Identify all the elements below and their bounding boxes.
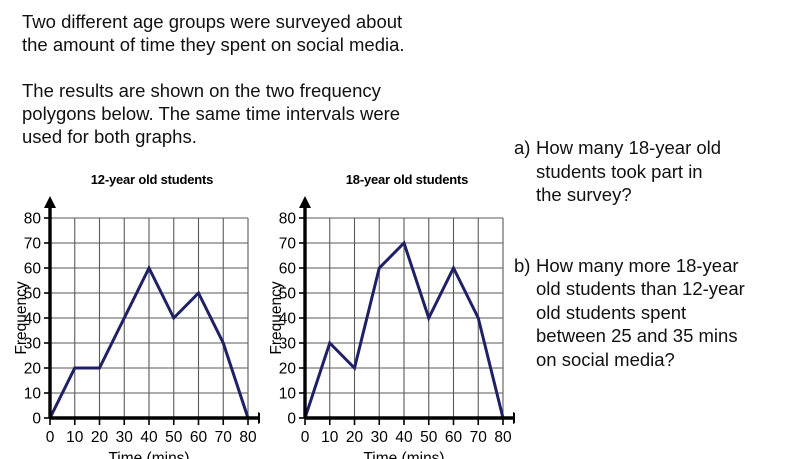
x-tick-label: 20 bbox=[346, 429, 364, 446]
chart-canvas: 0102030405060708001020304050607080Time (… bbox=[265, 187, 515, 459]
chart-canvas: 0102030405060708001020304050607080Time (… bbox=[10, 187, 260, 459]
chart-axes bbox=[299, 196, 515, 424]
question-b-text: How many more 18-year old students than … bbox=[536, 254, 800, 372]
question-a-text: How many 18-year old students took part … bbox=[536, 136, 800, 207]
intro-text-block: Two different age groups were surveyed a… bbox=[22, 10, 492, 148]
frequency-polygon-12-year: 12-year old students 0102030405060708001… bbox=[10, 172, 272, 459]
question-b: b) How many more 18-year old students th… bbox=[514, 254, 800, 372]
x-axis-title: Time (mins) bbox=[108, 450, 189, 459]
x-tick-label: 0 bbox=[301, 429, 310, 446]
x-axis-ticks: 01020304050607080 bbox=[301, 418, 512, 446]
question-a: a) How many 18-year old students took pa… bbox=[514, 136, 800, 207]
x-tick-label: 30 bbox=[371, 429, 389, 446]
x-tick-label: 60 bbox=[445, 429, 463, 446]
intro-paragraph-1: Two different age groups were surveyed a… bbox=[22, 10, 492, 56]
chart-gridlines bbox=[305, 218, 503, 418]
x-axis-title: Time (mins) bbox=[363, 450, 444, 459]
x-tick-label: 10 bbox=[66, 429, 84, 446]
x-tick-label: 20 bbox=[91, 429, 109, 446]
y-tick-label: 20 bbox=[279, 361, 297, 378]
y-tick-label: 80 bbox=[24, 211, 42, 228]
y-tick-label: 60 bbox=[279, 261, 297, 278]
y-axis-title: Frequency bbox=[13, 281, 30, 354]
y-tick-label: 60 bbox=[24, 261, 42, 278]
y-tick-label: 70 bbox=[279, 236, 297, 253]
x-tick-label: 0 bbox=[46, 429, 55, 446]
x-axis-ticks: 01020304050607080 bbox=[46, 418, 257, 446]
x-tick-label: 30 bbox=[116, 429, 134, 446]
x-tick-label: 40 bbox=[140, 429, 158, 446]
chart-gridlines bbox=[50, 218, 248, 418]
question-a-marker: a) bbox=[514, 136, 536, 207]
chart-axes bbox=[44, 196, 260, 424]
chart-title: 18-year old students bbox=[287, 172, 527, 187]
y-tick-label: 0 bbox=[287, 411, 296, 428]
chart-title: 12-year old students bbox=[32, 172, 272, 187]
x-tick-label: 40 bbox=[395, 429, 413, 446]
intro-paragraph-2: The results are shown on the two frequen… bbox=[22, 79, 492, 148]
x-tick-label: 50 bbox=[165, 429, 183, 446]
x-tick-label: 80 bbox=[239, 429, 257, 446]
x-tick-label: 70 bbox=[470, 429, 488, 446]
y-tick-label: 0 bbox=[32, 411, 41, 428]
x-tick-label: 10 bbox=[321, 429, 339, 446]
y-tick-label: 80 bbox=[279, 211, 297, 228]
x-tick-label: 80 bbox=[494, 429, 512, 446]
x-tick-label: 60 bbox=[190, 429, 208, 446]
y-tick-label: 10 bbox=[24, 386, 42, 403]
y-tick-label: 70 bbox=[24, 236, 42, 253]
x-tick-label: 50 bbox=[420, 429, 438, 446]
y-tick-label: 20 bbox=[24, 361, 42, 378]
questions-block: a) How many 18-year old students took pa… bbox=[514, 136, 800, 371]
question-b-marker: b) bbox=[514, 254, 536, 372]
x-tick-label: 70 bbox=[215, 429, 233, 446]
y-axis-title: Frequency bbox=[268, 281, 285, 354]
y-tick-label: 10 bbox=[279, 386, 297, 403]
frequency-polygon-18-year: 18-year old students 0102030405060708001… bbox=[265, 172, 527, 459]
